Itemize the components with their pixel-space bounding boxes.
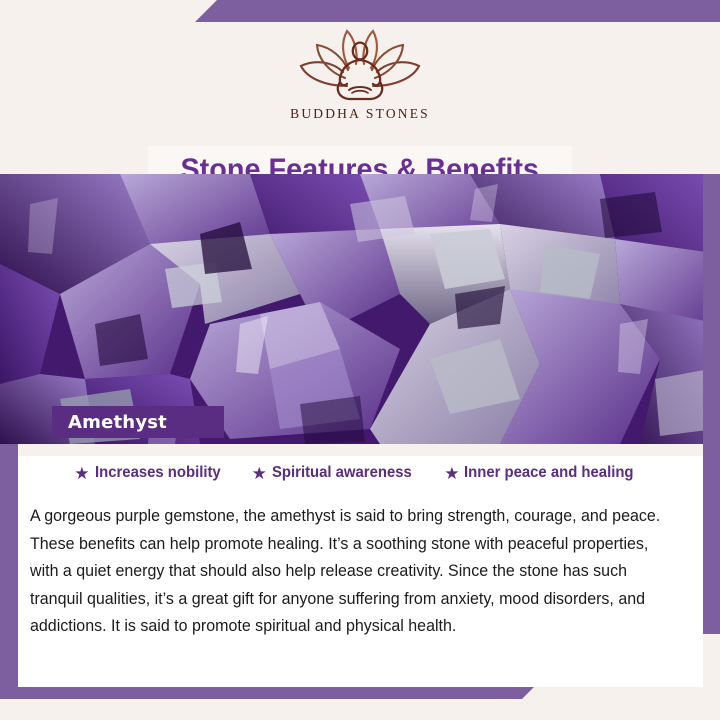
- header-section: BUDDHA STONES Stone Features & Benefits: [0, 22, 720, 174]
- benefit-label: Spiritual awareness: [272, 464, 412, 482]
- benefit-item-3: ★ Inner peace and healing: [444, 464, 647, 482]
- top-accent-bar: [195, 0, 720, 22]
- content-card: ★ Increases nobility ★ Spiritual awarene…: [18, 444, 703, 687]
- stone-name-band: Amethyst: [52, 406, 224, 438]
- left-accent-rail: [0, 444, 18, 694]
- benefit-label: Inner peace and healing: [464, 464, 634, 482]
- brand-logo: BUDDHA STONES: [0, 26, 720, 122]
- benefits-row: ★ Increases nobility ★ Spiritual awarene…: [18, 464, 703, 482]
- hero-image: [0, 174, 720, 444]
- benefit-item-2: ★ Spiritual awareness: [252, 464, 423, 482]
- star-icon: ★: [252, 465, 267, 482]
- stone-name: Amethyst: [52, 412, 167, 433]
- brand-name: BUDDHA STONES: [0, 106, 720, 122]
- benefit-label: Increases nobility: [95, 464, 221, 482]
- star-icon: ★: [74, 465, 89, 482]
- benefit-item-1: ★ Increases nobility: [74, 464, 229, 482]
- lotus-meditation-figure-icon: [285, 26, 435, 104]
- star-icon: ★: [444, 465, 459, 482]
- card-top-tint: [18, 444, 703, 456]
- amethyst-crystal-cluster-photo: [0, 174, 720, 444]
- description-paragraph: A gorgeous purple gemstone, the amethyst…: [30, 502, 667, 640]
- right-accent-rail: [703, 174, 720, 634]
- infographic-page: BUDDHA STONES Stone Features & Benefits: [0, 0, 720, 720]
